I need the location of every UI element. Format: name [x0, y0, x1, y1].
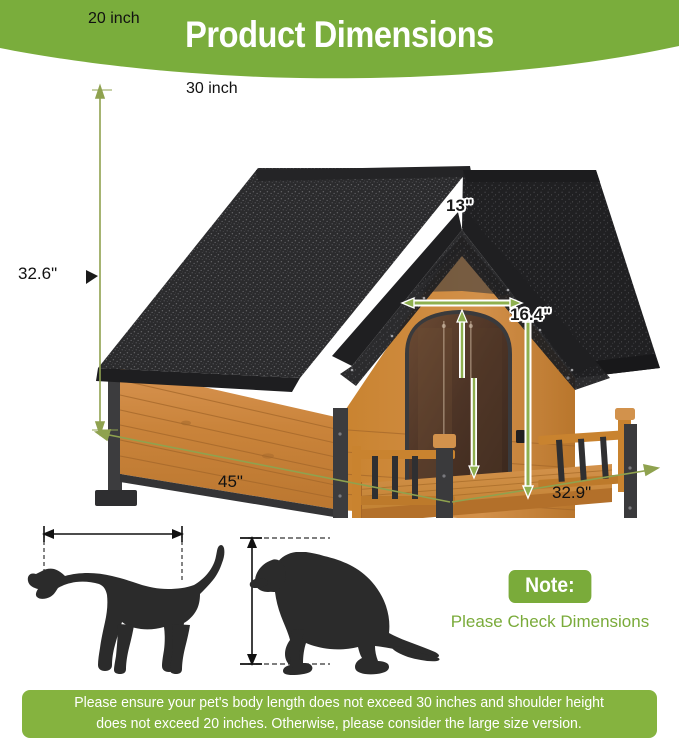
- dog-house-drawing: [0, 78, 679, 518]
- house-left-foot: [95, 490, 137, 506]
- wood-knot: [262, 453, 274, 458]
- door-width-dim: [402, 298, 522, 308]
- house-front-left-post: [333, 408, 348, 518]
- door-interior: [409, 314, 508, 490]
- note-block: Note: Please Check Dimensions: [430, 570, 670, 632]
- footer-line-2: does not exceed 20 inches. Otherwise, pl…: [97, 716, 583, 732]
- standing-dog-length-label: 20 inch: [88, 10, 140, 28]
- product-illustration: [0, 78, 679, 518]
- depth-arrow-right: [644, 465, 658, 475]
- porch-post-cap-right: [615, 408, 635, 420]
- standing-dog-group: [28, 526, 225, 674]
- height-pointer: [86, 270, 98, 284]
- porch-post-front-left: [436, 444, 453, 518]
- length-dimension-label: 45": [218, 472, 243, 492]
- depth-dimension-label: 32.9": [552, 483, 591, 503]
- door-height-dimension-label: 16.4": [510, 305, 551, 325]
- note-badge: Note:: [509, 570, 591, 603]
- note-text: Please Check Dimensions: [430, 612, 670, 632]
- footer-line-1: Please ensure your pet's body length doe…: [75, 695, 605, 711]
- height-dimension-label: 32.6": [18, 264, 57, 284]
- footer-text: Please ensure your pet's body length doe…: [61, 693, 618, 735]
- sitting-dog-group: [240, 536, 440, 675]
- door-latch: [516, 430, 525, 443]
- door-width-dimension-label: 13": [446, 196, 473, 216]
- height-arrow-top: [96, 86, 104, 98]
- length-arrow-left: [96, 430, 110, 440]
- porch-rail-left-endpost: [352, 446, 361, 518]
- footer-banner: Please ensure your pet's body length doe…: [22, 690, 657, 738]
- sitting-dog-height-label: 30 inch: [186, 80, 238, 98]
- wood-knot: [181, 421, 191, 426]
- porch-post-front-right: [624, 424, 637, 518]
- porch-post-cap-left: [433, 434, 456, 448]
- door-height-dim: [523, 310, 533, 498]
- roof-right-ridge: [463, 170, 600, 182]
